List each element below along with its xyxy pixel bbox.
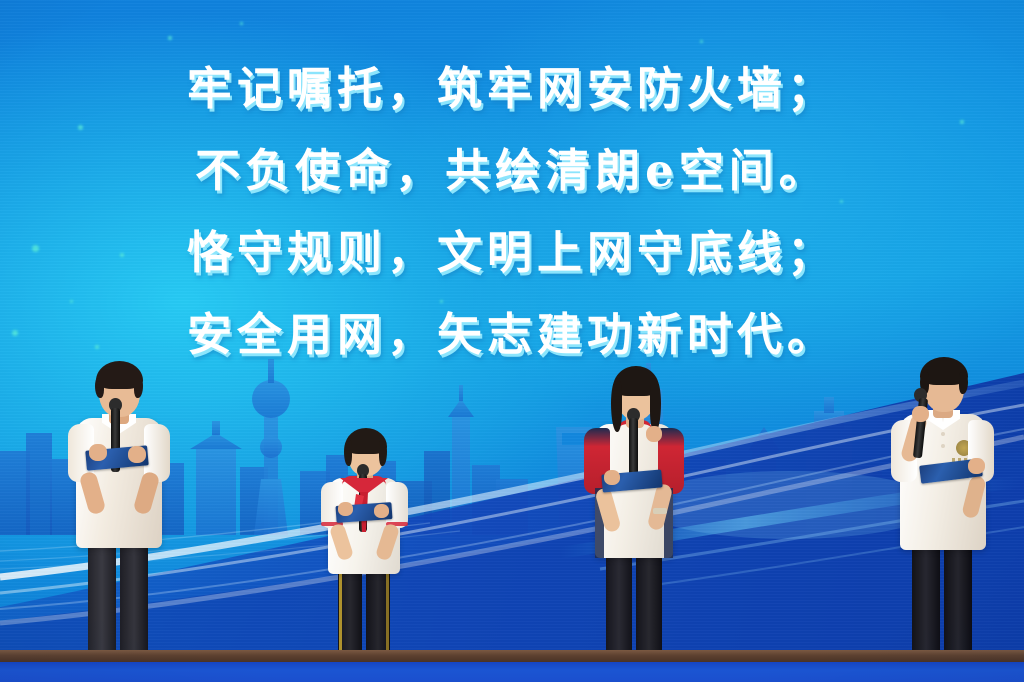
- hand-left: [89, 444, 107, 461]
- stage-front-edge: [0, 650, 1024, 662]
- hair-long-left: [611, 380, 622, 432]
- hair-side-left: [95, 376, 104, 398]
- hair-side-right: [379, 440, 387, 466]
- stage-floor: [0, 662, 1024, 682]
- performer-3: [578, 368, 696, 682]
- particle-dot: [168, 36, 172, 40]
- hand-right: [646, 426, 662, 442]
- performer-2: [312, 428, 424, 682]
- hair-side-right: [134, 376, 143, 398]
- performer-4: [884, 358, 1008, 682]
- hand-left: [912, 406, 929, 422]
- slogan-line-1: 牢记嘱托，筑牢网安防火墙；: [0, 48, 1024, 130]
- hand-right: [128, 446, 146, 463]
- slogan-line-2: 不负使命，共绘清朗e空间。: [0, 130, 1024, 212]
- particle-dot: [700, 40, 703, 43]
- hand-left: [338, 502, 353, 516]
- screenshot-root: 牢记嘱托，筑牢网安防火墙； 不负使命，共绘清朗e空间。 恪守规则，文明上网守底线…: [0, 0, 1024, 682]
- shirt-button: [941, 444, 945, 448]
- performer-1: [58, 360, 188, 682]
- hand-left: [604, 470, 620, 485]
- hand-right: [968, 458, 985, 474]
- slogan-text-block: 牢记嘱托，筑牢网安防火墙； 不负使命，共绘清朗e空间。 恪守规则，文明上网守底线…: [0, 48, 1024, 376]
- hair-side-right: [959, 372, 968, 394]
- slogan-line-3: 恪守规则，文明上网守底线；: [0, 212, 1024, 294]
- hair-side-left: [344, 440, 352, 466]
- wristwatch: [653, 508, 667, 514]
- particle-dot: [240, 22, 243, 25]
- hand-right: [374, 504, 389, 518]
- shirt-button: [941, 432, 945, 436]
